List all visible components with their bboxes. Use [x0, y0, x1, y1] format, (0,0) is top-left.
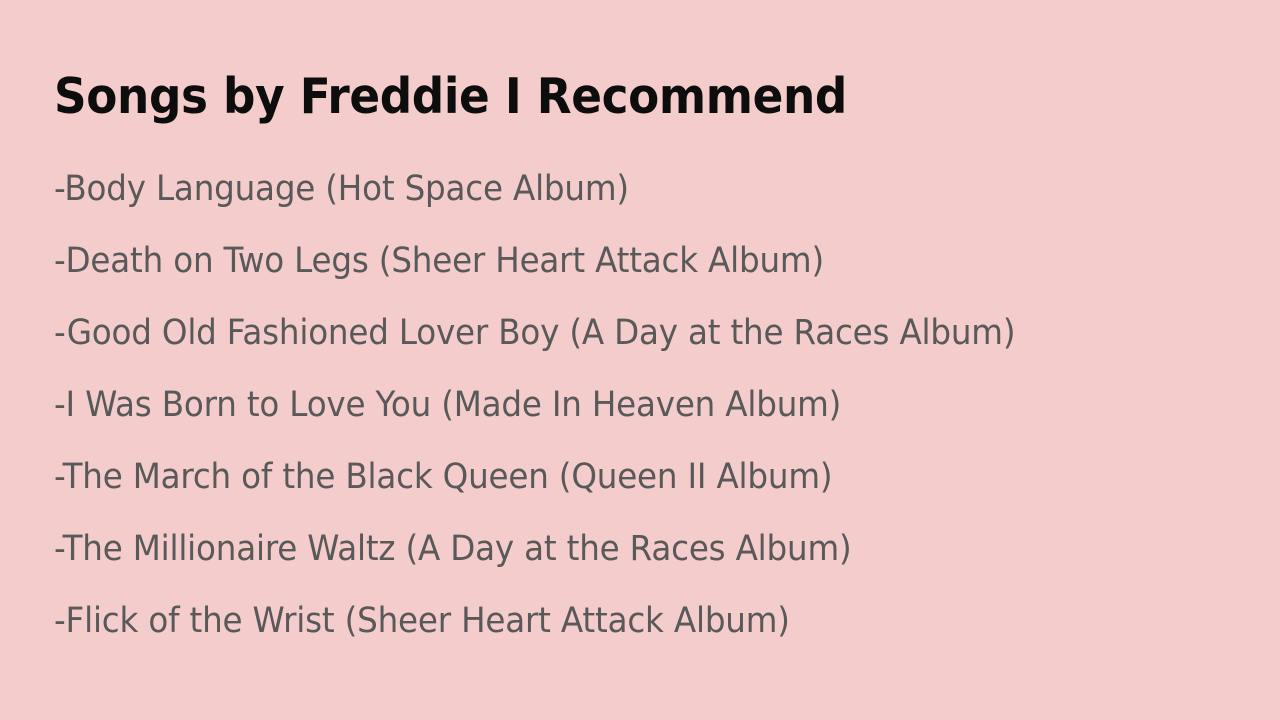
list-item: -Death on Two Legs (Sheer Heart Attack A… [54, 240, 1151, 312]
presentation-slide: Songs by Freddie I Recommend -Body Langu… [0, 0, 1280, 720]
list-item-label: -Body Language (Hot Space Album) [54, 169, 629, 209]
list-item-label: -The March of the Black Queen (Queen II … [54, 457, 832, 497]
list-item-label: -The Millionaire Waltz (A Day at the Rac… [54, 529, 851, 569]
song-recommendation-list: -Body Language (Hot Space Album) -Death … [54, 168, 1234, 672]
list-item-label: -Flick of the Wrist (Sheer Heart Attack … [54, 601, 790, 641]
list-item: -Good Old Fashioned Lover Boy (A Day at … [54, 312, 1151, 384]
list-item-label: -Death on Two Legs (Sheer Heart Attack A… [54, 241, 824, 281]
page-title: Songs by Freddie I Recommend [54, 68, 847, 126]
list-item: -The Millionaire Waltz (A Day at the Rac… [54, 528, 1151, 600]
list-item: -Flick of the Wrist (Sheer Heart Attack … [54, 600, 1151, 672]
list-item-label: -Good Old Fashioned Lover Boy (A Day at … [54, 313, 1015, 353]
list-item: -I Was Born to Love You (Made In Heaven … [54, 384, 1151, 456]
list-item: -The March of the Black Queen (Queen II … [54, 456, 1151, 528]
list-item-label: -I Was Born to Love You (Made In Heaven … [54, 385, 841, 425]
list-item: -Body Language (Hot Space Album) [54, 168, 1151, 240]
